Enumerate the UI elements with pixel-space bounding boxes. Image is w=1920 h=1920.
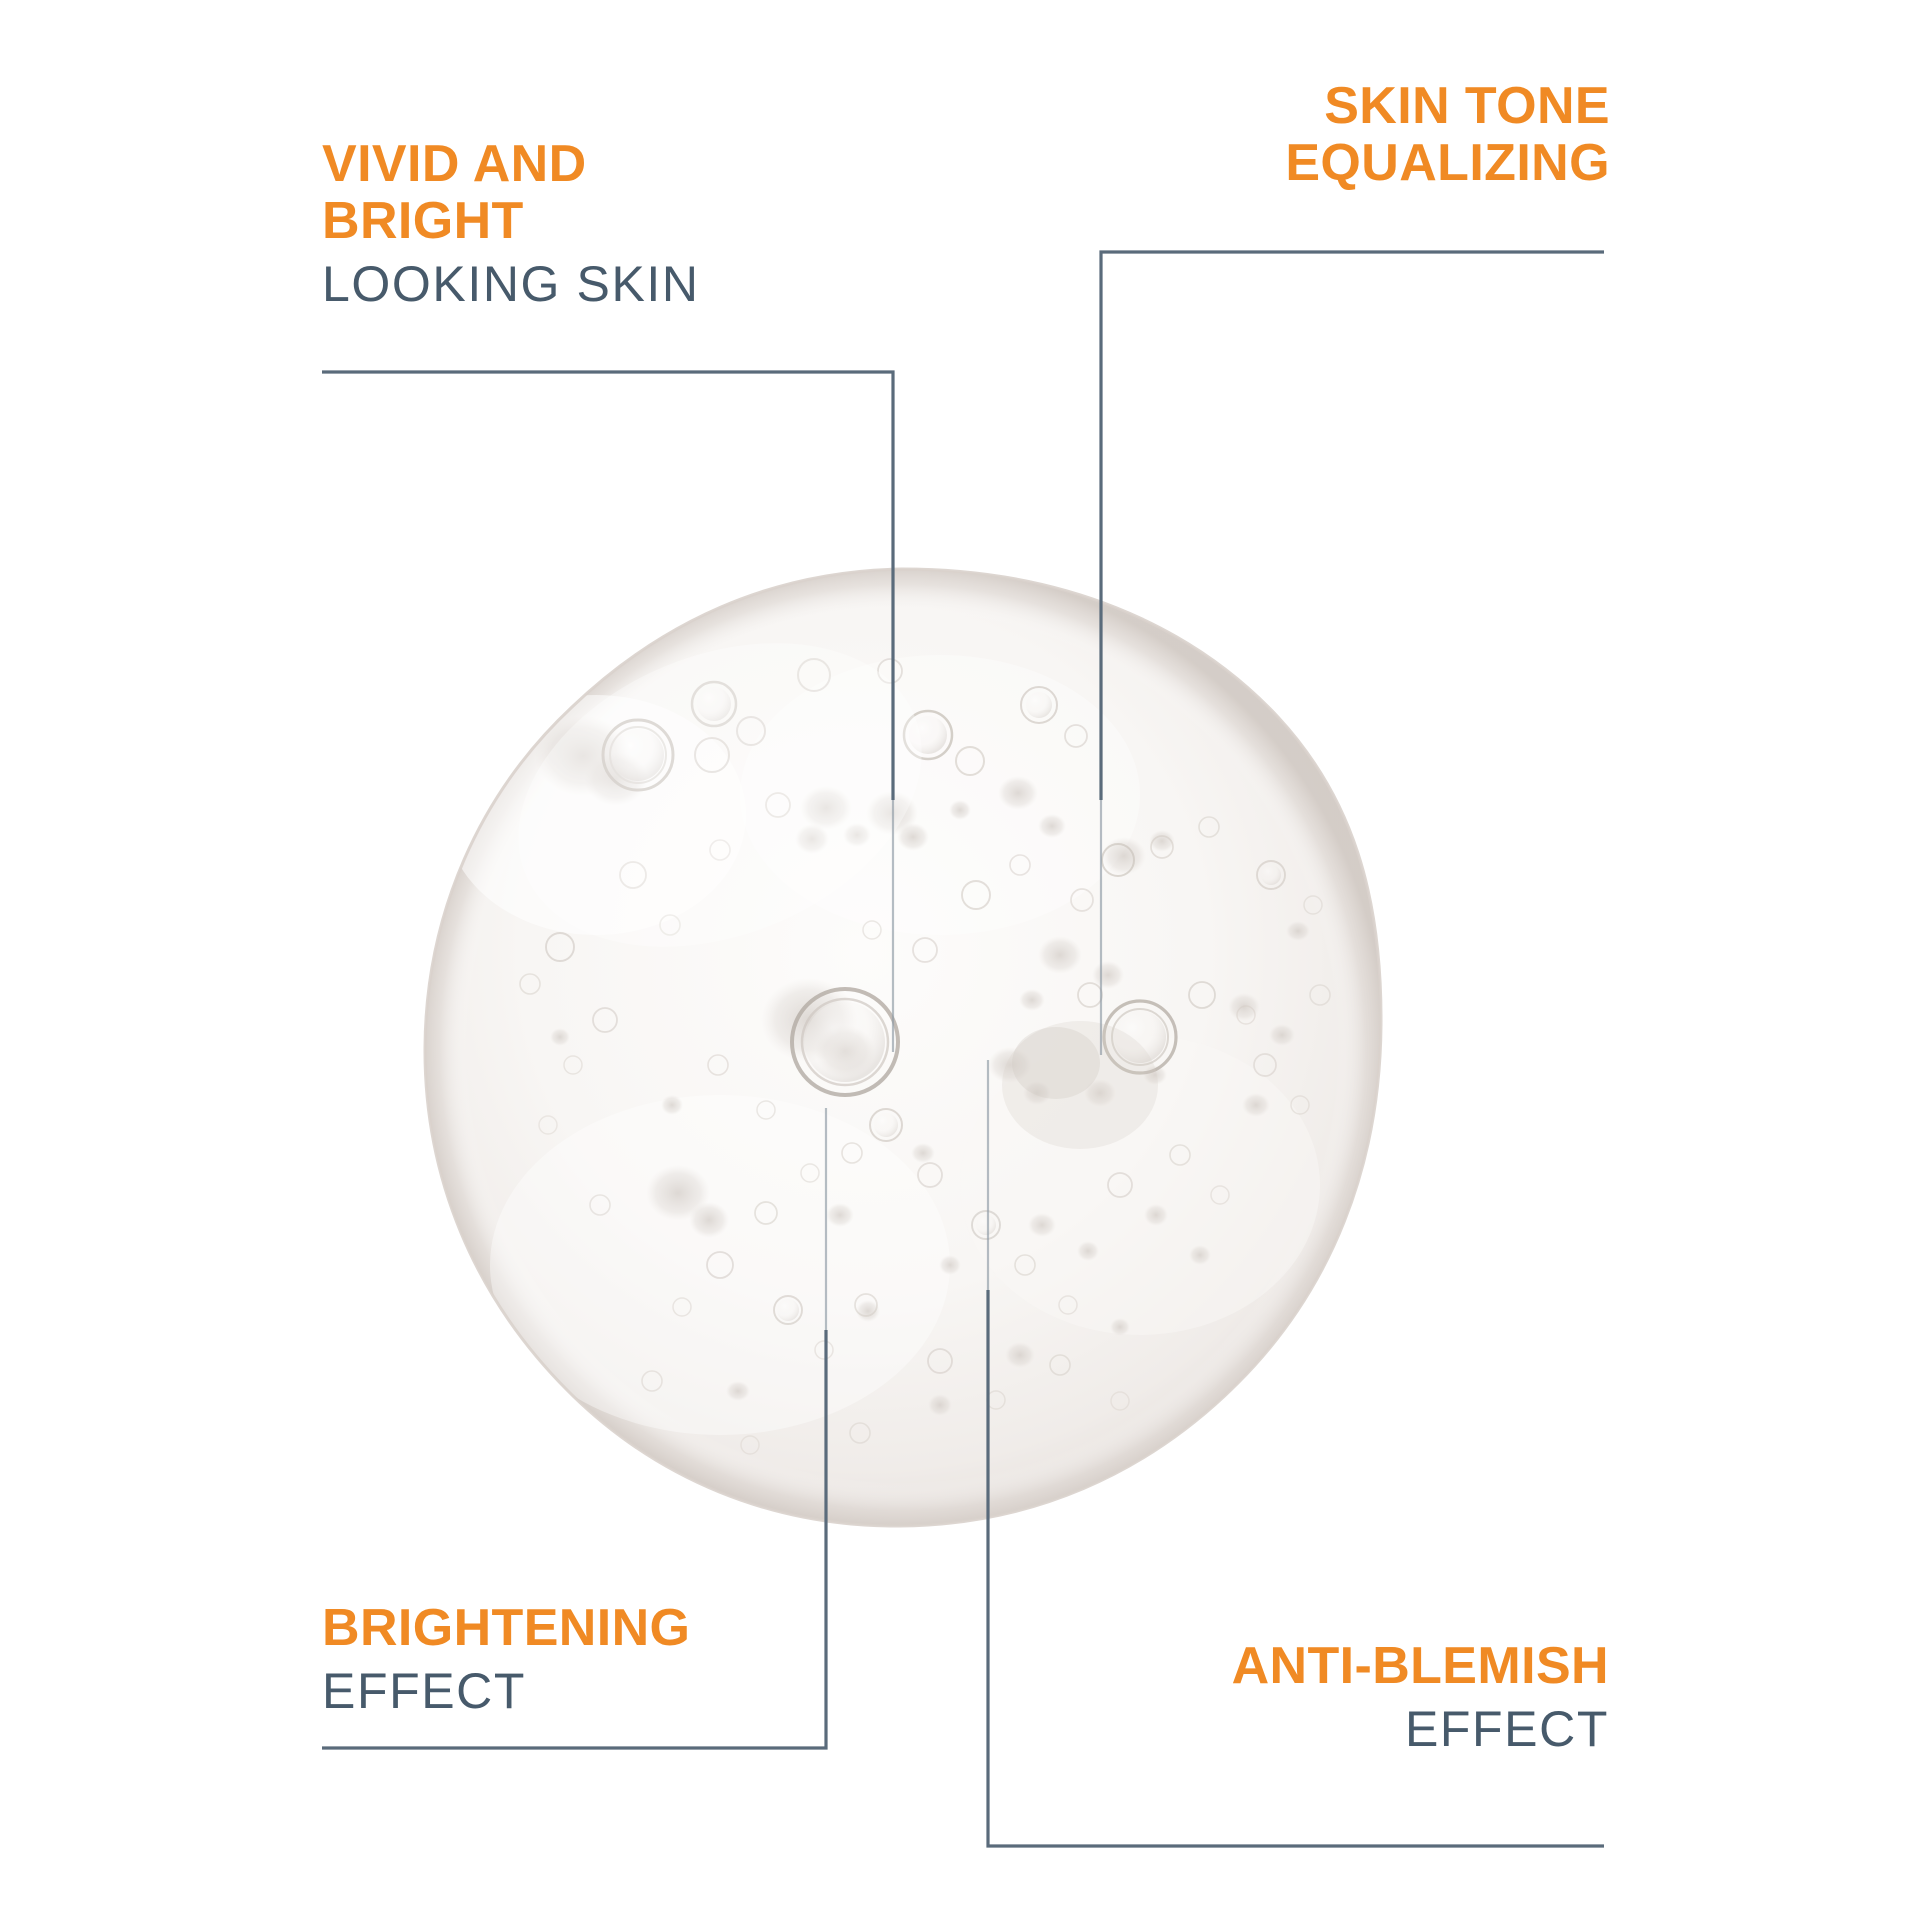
infographic-canvas: VIVID AND BRIGHT LOOKING SKIN SKIN TONE … xyxy=(0,0,1920,1920)
callout-subtitle-anti-blemish: EFFECT xyxy=(1064,1701,1609,1757)
callout-title-vivid-and-bright: VIVID AND BRIGHT xyxy=(322,136,842,250)
callout-anti-blemish: ANTI-BLEMISH EFFECT xyxy=(1064,1638,1609,1757)
callout-subtitle-brightening: EFFECT xyxy=(322,1663,862,1719)
callout-vivid-and-bright: VIVID AND BRIGHT LOOKING SKIN xyxy=(322,136,842,312)
callout-subtitle-vivid-and-bright: LOOKING SKIN xyxy=(322,256,842,312)
callout-title-skin-tone-equalizing: SKIN TONE EQUALIZING xyxy=(1110,78,1610,192)
gel-droplet-image xyxy=(420,565,1385,1530)
callout-title-anti-blemish: ANTI-BLEMISH xyxy=(1064,1638,1609,1695)
callout-brightening: BRIGHTENING EFFECT xyxy=(322,1600,862,1719)
callout-title-brightening: BRIGHTENING xyxy=(322,1600,862,1657)
callout-skin-tone-equalizing: SKIN TONE EQUALIZING xyxy=(1110,78,1610,192)
